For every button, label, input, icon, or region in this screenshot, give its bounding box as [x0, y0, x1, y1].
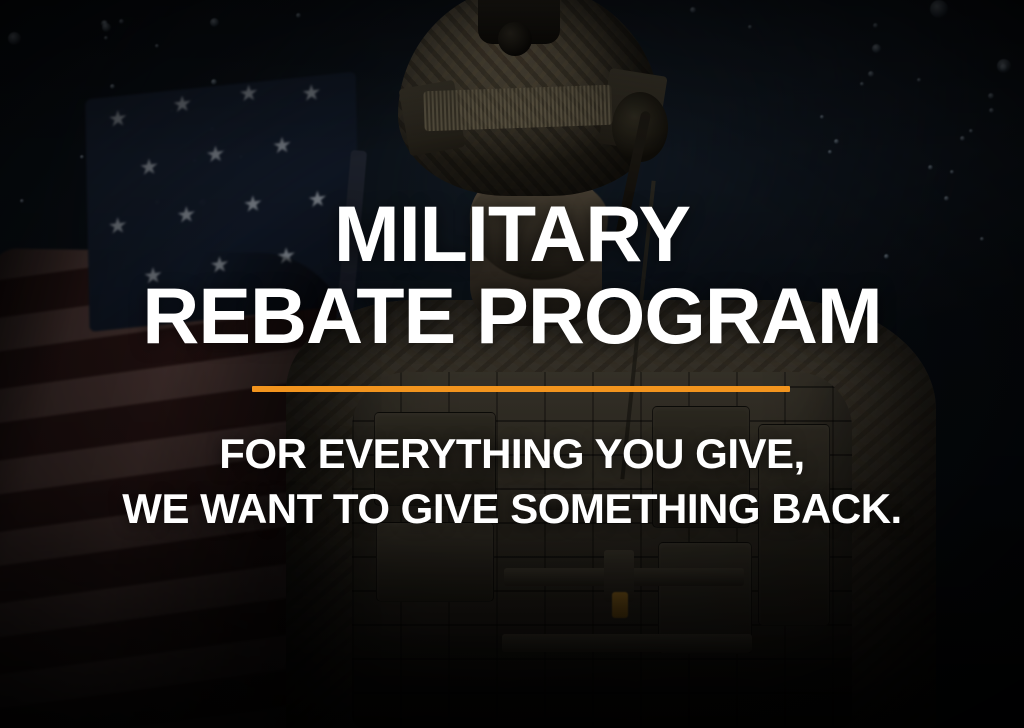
headline-line-2: REBATE PROGRAM — [0, 278, 1024, 355]
headline-line-1: MILITARY — [0, 196, 1024, 273]
accent-divider-rule — [252, 386, 790, 392]
subheadline-line-2: WE WANT TO GIVE SOMETHING BACK. — [0, 485, 1024, 533]
banner-text-content: MILITARY REBATE PROGRAM FOR EVERYTHING Y… — [0, 0, 1024, 728]
military-rebate-banner: ★ ★ ★ ★ ★ ★ ★ ★ ★ ★ ★ ★ ★ ★ — [0, 0, 1024, 728]
subheadline-line-1: FOR EVERYTHING YOU GIVE, — [0, 430, 1024, 478]
